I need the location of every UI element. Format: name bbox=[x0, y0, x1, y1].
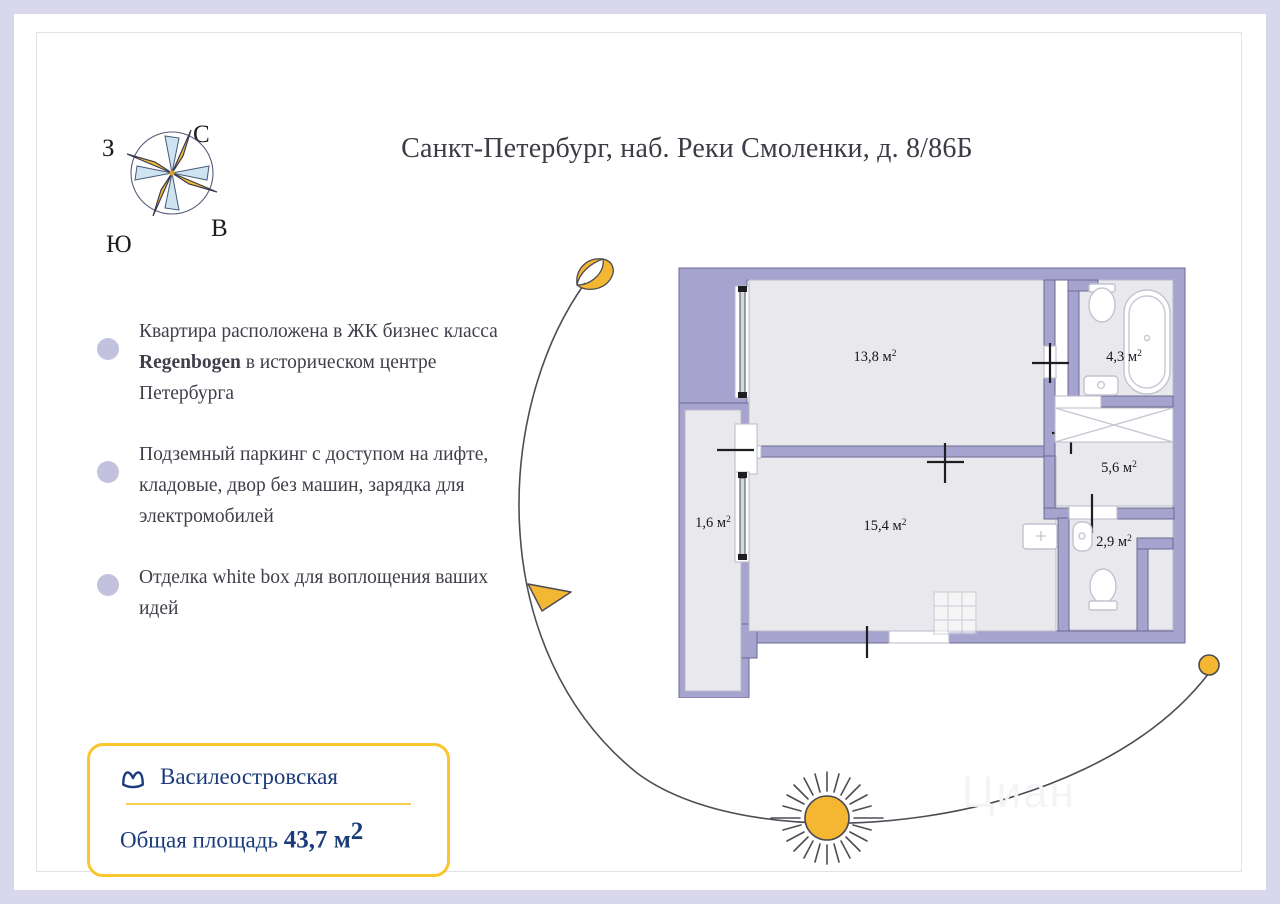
bullet-dot-icon bbox=[97, 574, 119, 596]
watermark: Циан bbox=[962, 768, 1182, 823]
room-wc-label: 2,9 м2 bbox=[1096, 534, 1132, 550]
page-title: Санкт-Петербург, наб. Реки Смоленки, д. … bbox=[307, 133, 1067, 165]
door-icon bbox=[1055, 396, 1101, 408]
feature-complex-text-before: Квартира расположена в ЖК бизнес класса bbox=[139, 321, 498, 342]
feature-complex-highlight: Regenbogen bbox=[139, 352, 241, 373]
compass-rose-icon bbox=[117, 118, 227, 228]
bathtub-icon bbox=[1124, 290, 1170, 394]
room-bathroom-label: 4,3 м2 bbox=[1106, 349, 1142, 365]
metro-m-icon bbox=[120, 764, 146, 790]
bullet-dot-icon bbox=[97, 338, 119, 360]
content-frame: С З В Ю bbox=[36, 32, 1242, 872]
compass-west-label: З bbox=[102, 135, 115, 163]
plan-rooms bbox=[685, 280, 1173, 691]
room-balcony-label: 1,6 м2 bbox=[695, 515, 731, 531]
floor-plan: .wall { fill:#a6a4cf; stroke:#6b6a92; st… bbox=[637, 228, 1197, 698]
room-kitchen-label: 15,4 м2 bbox=[864, 518, 907, 534]
feature-item-parking: Подземный паркинг с доступом на лифте, к… bbox=[97, 439, 527, 532]
closet-icon bbox=[1055, 408, 1173, 442]
room-hall-label: 5,6 м2 bbox=[1101, 460, 1137, 476]
room-living-area bbox=[749, 280, 1054, 455]
room-kitchen-area bbox=[749, 456, 1056, 631]
feature-item-finish: Отделка white box для воплощения ваших и… bbox=[97, 562, 527, 624]
washbasin-icon bbox=[1023, 524, 1057, 549]
compass-south-label: Ю bbox=[106, 231, 132, 259]
total-area-label: Общая площадь bbox=[120, 828, 284, 853]
bullet-dot-icon bbox=[97, 461, 119, 483]
info-card: Василеостровская Общая площадь 43,7 м2 bbox=[87, 743, 450, 877]
feature-item-complex: Квартира расположена в ЖК бизнес класса … bbox=[97, 316, 527, 409]
sun-icon bbox=[771, 772, 883, 864]
total-area-value: 43,7 bbox=[284, 827, 328, 854]
stove-icon bbox=[934, 592, 976, 634]
feature-complex-text: Квартира расположена в ЖК бизнес класса … bbox=[139, 316, 527, 409]
features-list: Квартира расположена в ЖК бизнес класса … bbox=[97, 316, 527, 654]
moon-icon bbox=[577, 259, 613, 290]
feature-finish-text: Отделка white box для воплощения ваших и… bbox=[139, 562, 527, 624]
total-area-unit: м bbox=[334, 827, 351, 854]
metro-row: Василеостровская bbox=[120, 764, 417, 790]
card-divider bbox=[126, 803, 411, 805]
total-area-row: Общая площадь 43,7 м2 bbox=[120, 818, 417, 855]
page-canvas: С З В Ю bbox=[14, 14, 1266, 890]
room-balcony-area bbox=[685, 410, 741, 691]
triangle-marker-icon bbox=[528, 584, 571, 611]
toilet-icon bbox=[1089, 569, 1117, 610]
compass-rose: С З В Ю bbox=[82, 73, 272, 238]
total-area-unit-sup: 2 bbox=[351, 818, 364, 845]
room-living-label: 13,8 м2 bbox=[854, 349, 897, 365]
sink-icon bbox=[1073, 522, 1092, 551]
dot-marker-icon bbox=[1199, 655, 1219, 675]
toilet-icon bbox=[1089, 284, 1115, 322]
feature-parking-text: Подземный паркинг с доступом на лифте, к… bbox=[139, 439, 527, 532]
sink-icon bbox=[1084, 376, 1118, 395]
metro-station-name: Василеостровская bbox=[160, 764, 338, 790]
